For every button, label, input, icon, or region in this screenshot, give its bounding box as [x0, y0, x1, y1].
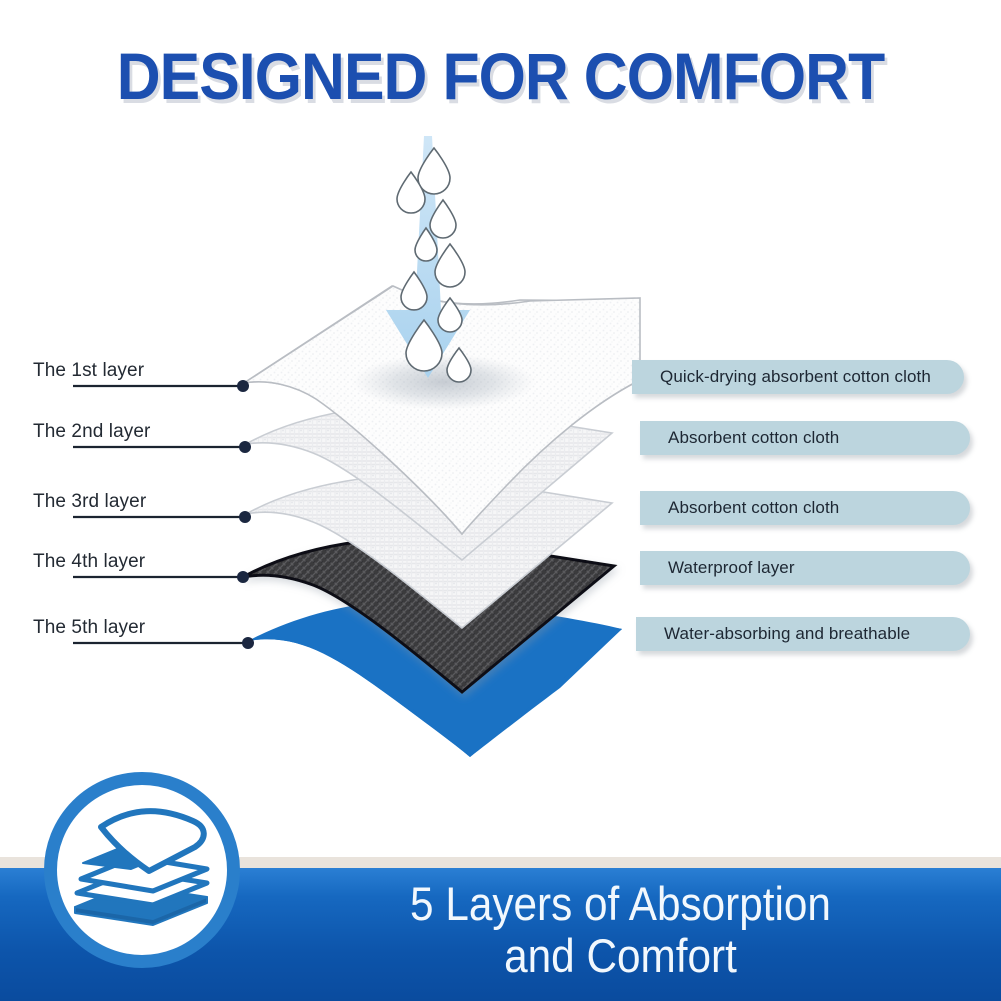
- layer-4-shape: [243, 538, 614, 692]
- stacked-sheets-badge: [44, 772, 240, 968]
- infographic-page: DESIGNED FOR COMFORT: [0, 0, 1001, 1001]
- layer-3-callout: Absorbent cotton cloth: [640, 491, 970, 525]
- layer-5-left-label: The 5th layer: [33, 617, 145, 639]
- layer-1-callout: Quick-drying absorbent cotton cloth: [632, 360, 964, 394]
- layer-2-left-label: The 2nd layer: [33, 421, 150, 443]
- layer-1-left-label: The 1st layer: [33, 360, 144, 382]
- layer-5-callout: Water-absorbing and breathable: [636, 617, 970, 651]
- banner-text: 5 Layers of Absorption and Comfort: [278, 878, 963, 982]
- layer-3-shape: [246, 476, 612, 628]
- layer-1-shape: [244, 286, 640, 534]
- banner-line-2: and Comfort: [278, 930, 963, 982]
- leader-dots: [237, 380, 254, 649]
- layer-2-shape: [246, 406, 612, 560]
- layer-4-left-label: The 4th layer: [33, 551, 145, 573]
- layer-1-callout-label: Quick-drying absorbent cotton cloth: [660, 367, 931, 387]
- layer-4-callout: Waterproof layer: [640, 551, 970, 585]
- layer-3-callout-label: Absorbent cotton cloth: [668, 498, 839, 518]
- layer-2-callout: Absorbent cotton cloth: [640, 421, 970, 455]
- wet-spot: [352, 354, 536, 410]
- absorption-arrow: [386, 136, 470, 378]
- layer-5-shape: [248, 600, 622, 757]
- layer-5-callout-label: Water-absorbing and breathable: [664, 624, 910, 644]
- banner-line-1: 5 Layers of Absorption: [410, 877, 831, 930]
- stacked-sheets-icon: [57, 785, 227, 955]
- layer-4-callout-label: Waterproof layer: [668, 558, 795, 578]
- water-droplet-icon: [397, 148, 471, 382]
- layer-3-left-label: The 3rd layer: [33, 491, 146, 513]
- layer-2-callout-label: Absorbent cotton cloth: [668, 428, 839, 448]
- page-title: DESIGNED FOR COMFORT: [40, 38, 961, 114]
